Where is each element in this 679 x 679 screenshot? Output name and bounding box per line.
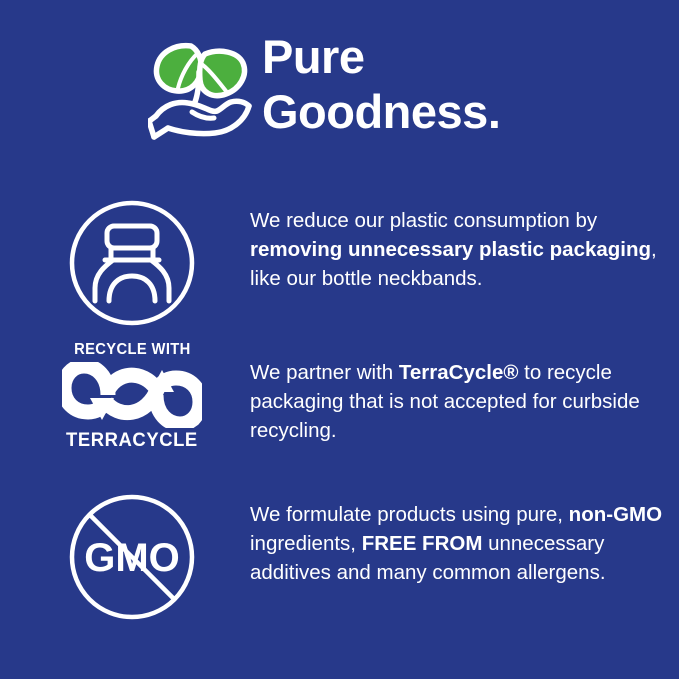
no-gmo-circle-icon: GMO xyxy=(58,484,206,622)
terracycle-logo-icon: RECYCLE WITH R xyxy=(58,336,206,450)
terracycle-badge: RECYCLE WITH R xyxy=(59,342,205,450)
text-segment: We reduce our plastic consumption by xyxy=(250,209,597,232)
terracycle-bottom-label: TERRACYCLE xyxy=(66,431,198,450)
recycle-infinity-icon: R xyxy=(62,362,202,428)
page-title: Pure Goodness. xyxy=(262,28,500,139)
feature-row-non-gmo: GMO We formulate products using pure, no… xyxy=(0,484,679,634)
hand-holding-sprout-icon xyxy=(148,32,256,144)
feature-text-plastic-reduction: We reduce our plastic consumption by rem… xyxy=(206,190,679,293)
feature-text-terracycle: We partner with TerraCycle® to recycle p… xyxy=(206,336,679,445)
gmo-label: GMO xyxy=(84,536,180,580)
promo-graphic: Pure Goodness. xyxy=(0,0,679,679)
text-segment: We formulate products using pure, xyxy=(250,503,569,526)
feature-row-plastic-reduction: We reduce our plastic consumption by rem… xyxy=(0,190,679,336)
text-segment-bold: removing unnecessary plastic packaging xyxy=(250,238,651,261)
header: Pure Goodness. xyxy=(0,28,679,144)
text-segment: We partner with xyxy=(250,361,399,384)
bottle-neckband-circle-icon xyxy=(58,190,206,328)
feature-text-non-gmo: We formulate products using pure, non-GM… xyxy=(206,484,679,587)
text-segment-bold: non-GMO xyxy=(569,503,662,526)
terracycle-top-label: RECYCLE WITH xyxy=(74,342,191,358)
text-segment-bold: FREE FROM xyxy=(362,532,483,555)
text-segment: ingredients, xyxy=(250,532,362,555)
feature-row-terracycle: RECYCLE WITH R xyxy=(0,336,679,484)
feature-list: We reduce our plastic consumption by rem… xyxy=(0,190,679,634)
svg-text:R: R xyxy=(193,420,197,426)
text-segment-bold: TerraCycle® xyxy=(399,361,519,384)
